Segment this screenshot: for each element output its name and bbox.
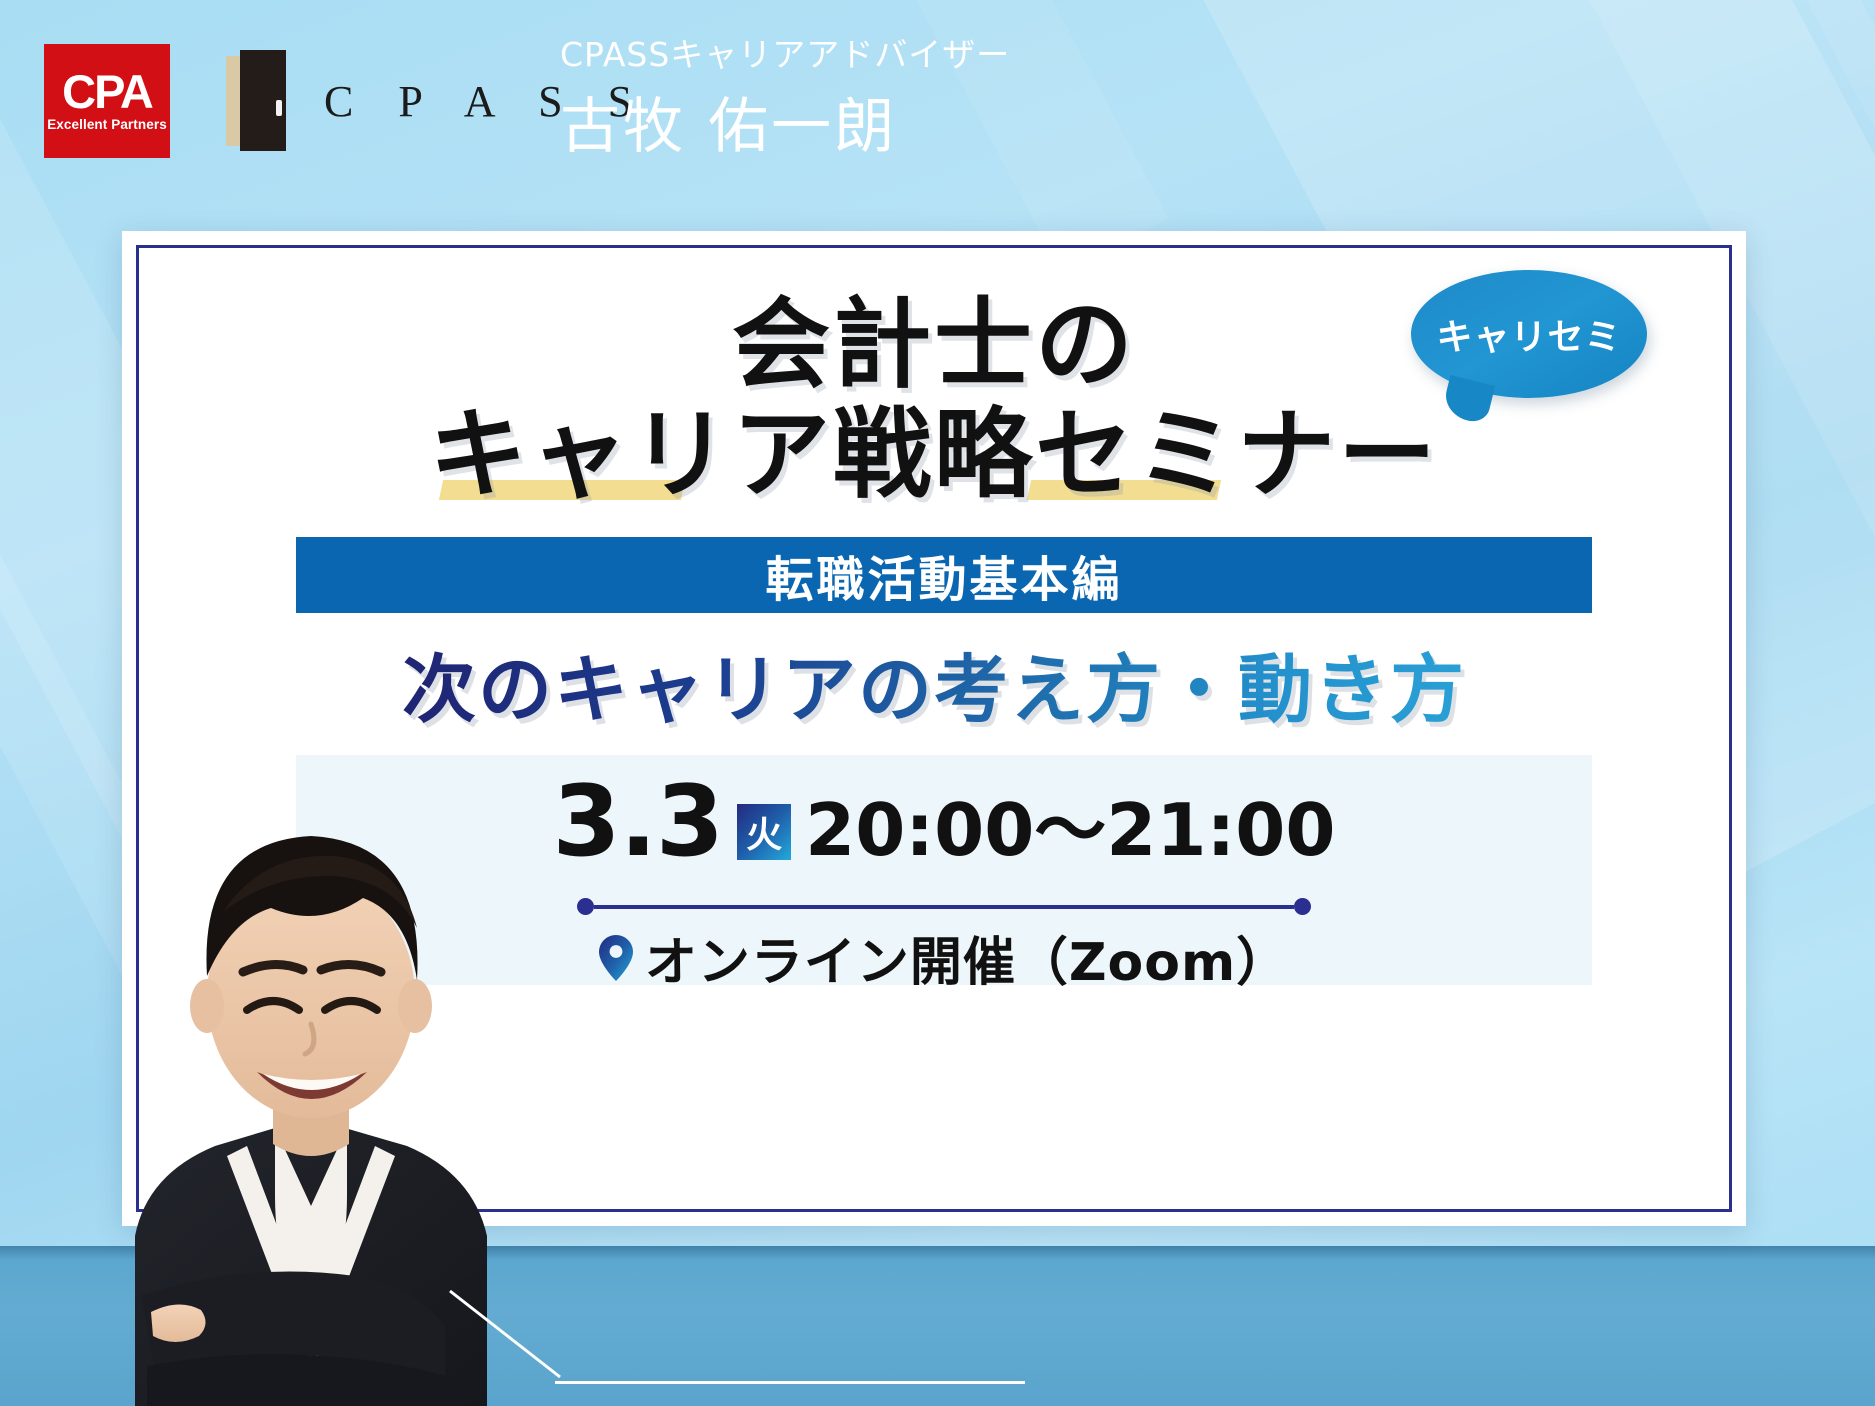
schedule-venue-row: オンライン開催（Zoom） [296, 920, 1592, 995]
cpa-logo-tagline: Excellent Partners [47, 117, 167, 132]
schedule-venue: オンライン開催（Zoom） [645, 920, 1289, 995]
speaker-name: 古牧 佑一朗 [560, 78, 1010, 165]
schedule-date: 3.3 [553, 773, 724, 871]
speaker-name-underline [555, 1381, 1025, 1384]
divider-dot-left [577, 898, 594, 915]
schedule-panel: 3.3 火 20:00〜21:00 [296, 755, 1592, 985]
schedule-divider [296, 898, 1592, 915]
sub-banner-label: 転職活動基本編 [765, 540, 1122, 610]
subtitle: 次のキャリアの考え方・動き方 [139, 630, 1729, 737]
speaker-info: CPASSキャリアアドバイザー 古牧 佑一朗 [560, 28, 1010, 165]
map-pin-icon [599, 935, 633, 981]
main-card-inner-border: キャリセミ 会計士の キャリア戦略セミナー 転職活動基本編 次のキャリアの考え方… [136, 245, 1732, 1212]
divider-dot-right [1294, 898, 1311, 915]
schedule-day-of-week-badge: 火 [737, 804, 791, 860]
title-line-2-wrap: キャリア戦略セミナー [429, 406, 1439, 506]
divider-bar [594, 905, 1294, 909]
seminar-poster: CPA Excellent Partners C P A S S キャリセミ 会… [0, 0, 1875, 1406]
sub-banner: 転職活動基本編 [296, 537, 1592, 613]
title-line-2: キャリア戦略セミナー [429, 398, 1439, 512]
cpa-logo-mark: CPA [62, 70, 152, 113]
header-logos: CPA Excellent Partners C P A S S [44, 44, 649, 158]
open-door-icon [226, 56, 288, 146]
speaker-callout-line [448, 1289, 568, 1381]
subtitle-text: 次のキャリアの考え方・動き方 [402, 630, 1466, 737]
main-card: キャリセミ 会計士の キャリア戦略セミナー 転職活動基本編 次のキャリアの考え方… [122, 231, 1746, 1226]
category-badge-label: キャリセミ [1436, 308, 1621, 360]
category-badge: キャリセミ [1411, 270, 1647, 398]
schedule-date-row: 3.3 火 20:00〜21:00 [296, 773, 1592, 871]
cpa-logo-icon: CPA Excellent Partners [44, 44, 170, 158]
speaker-role: CPASSキャリアアドバイザー [560, 28, 1010, 76]
schedule-time: 20:00〜21:00 [805, 794, 1335, 866]
